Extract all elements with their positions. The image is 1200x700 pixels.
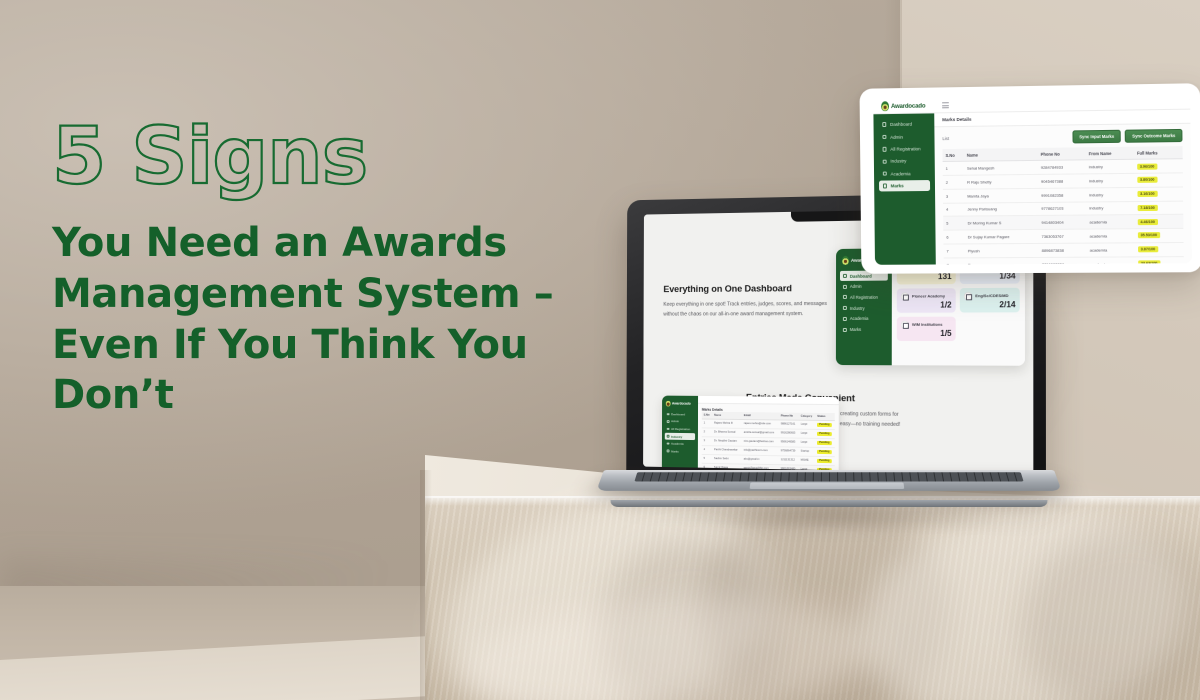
building-icon: [901, 321, 909, 329]
sidebar-item-label: Academia: [891, 171, 911, 176]
status-badge: Pending: [817, 441, 831, 445]
cell-full-marks: 3.16/100: [1134, 187, 1183, 201]
cell-phone: 9778627103: [1038, 202, 1086, 216]
sidebar-item-label: Industry: [850, 306, 865, 311]
cell-category: Large: [799, 420, 816, 429]
floating-marks-card[interactable]: Awardocado Dashboard Admin All Registrat…: [859, 83, 1200, 274]
sidebar-item-marks[interactable]: Marks: [665, 447, 695, 455]
cap-icon: [843, 317, 847, 321]
marks-badge: 4.46/100: [1138, 219, 1158, 225]
cell-sno: 4: [702, 445, 712, 454]
sidebar-item-industry[interactable]: Industry: [879, 155, 930, 167]
check-icon: [883, 184, 887, 188]
marks-badge: 3.87/100: [1138, 246, 1158, 252]
registrations-table: S.No Name Email Phone No Category Status: [702, 412, 835, 474]
cell-category: Startup: [799, 447, 816, 456]
column-header: From Name: [1086, 147, 1134, 160]
cell-category: Large: [799, 429, 816, 438]
brand-logo: Awardocado: [881, 101, 925, 112]
pedestal-left-edge: [420, 470, 432, 700]
toolbar: List Sync Input Marks Sync Outcome Marks: [934, 124, 1190, 149]
status-badge: Pending: [817, 459, 831, 463]
floating-card-inner: Awardocado Dashboard Admin All Registrat…: [873, 94, 1192, 264]
cell-phone: 1211131312: [779, 456, 799, 465]
column-header: Phone No: [1038, 147, 1086, 160]
cell-sno: 2: [943, 175, 964, 189]
cell-from-name: industry: [1086, 187, 1134, 201]
cell-name: Piyush: [965, 243, 1039, 257]
check-icon: [667, 450, 669, 453]
cell-sno: 7: [943, 244, 964, 258]
cell-phone: 9991082358: [1038, 188, 1086, 202]
list-label: List: [942, 136, 949, 141]
column-header: Full Marks: [1134, 146, 1183, 159]
brand-name: Awardocado: [891, 102, 925, 109]
cell-full-marks: 23.63/100: [1135, 256, 1184, 264]
sidebar-item-dashboard[interactable]: Dashboard: [878, 118, 929, 130]
cell-phone: 9284784933: [1038, 160, 1086, 174]
marks-widget-sidebar: Awardocado Dashboard Admin All Regi: [662, 396, 698, 474]
stat-tile-label: Eng/Sc/CDES/MD: [975, 294, 1008, 299]
cell-from-name: industry: [1086, 201, 1134, 215]
cell-from-name: academia: [1087, 243, 1135, 257]
headline-outline-text: 5 Signs: [52, 118, 612, 196]
cell-full-marks: 7.18/100: [1135, 201, 1184, 215]
check-icon: [843, 328, 847, 332]
building-icon: [964, 292, 972, 300]
cell-name: Dr Sujay Kumar Pagare: [965, 230, 1039, 244]
sidebar-item-admin[interactable]: Admin: [840, 281, 888, 292]
cap-icon: [667, 442, 669, 445]
sidebar-item-label: Admin: [850, 284, 862, 289]
cell-full-marks: 4.46/100: [1135, 215, 1184, 229]
sidebar-item-label: Dashboard: [850, 273, 872, 278]
cell-name: Dr Moring Kumar S: [964, 216, 1038, 230]
column-header: S.No: [942, 149, 963, 162]
cell-from-name: academia: [1086, 229, 1134, 243]
cell-phone: 8896873838: [1039, 243, 1087, 257]
stat-tile-label: Pioneer Academy: [912, 294, 945, 299]
cell-phone: 9414803404: [1038, 215, 1086, 229]
trackpad: [750, 483, 905, 489]
sidebar-item-label: Dashboard: [671, 412, 685, 416]
marks-widget[interactable]: Awardocado Dashboard Admin All Regi: [662, 396, 839, 474]
building-icon: [667, 435, 669, 438]
breadcrumb-label: Marks Details: [942, 117, 971, 122]
cell-from-name: industry: [1086, 173, 1134, 187]
brand-name: Awardocado: [672, 402, 691, 406]
sidebar-item-label: Marks: [850, 327, 861, 332]
cell-full-marks: 3.87/100: [1135, 242, 1184, 256]
stat-tile-label: WIM Institutions: [912, 322, 943, 327]
stat-tile-value: 1/2: [901, 300, 952, 309]
building-icon: [883, 159, 887, 163]
stat-tile[interactable]: WIM Institutions 1/5: [897, 317, 956, 341]
cell-phone: 9886127161: [779, 420, 799, 429]
cell-sno: 5: [702, 454, 712, 463]
sidebar-item-label: Admin: [671, 420, 679, 424]
table-row[interactable]: 7 Piyush 8896873838 academia 3.87/100: [943, 242, 1183, 257]
cell-name: Rajeev Mehra R: [712, 419, 742, 428]
laptop-base-lip: [609, 500, 1048, 507]
status-badge: Pending: [817, 432, 831, 436]
cell-sno: 1: [702, 419, 712, 428]
sidebar-item-academia[interactable]: Academia: [840, 314, 888, 324]
cell-phone: 9045467388: [1038, 174, 1086, 188]
sidebar-item-label: All Registration: [671, 427, 690, 431]
cell-status: Pending: [815, 456, 834, 465]
sidebar-item-label: Admin: [890, 134, 903, 139]
marks-badge: 35.53/100: [1138, 233, 1160, 239]
grid-icon: [667, 413, 669, 416]
sidebar-item-label: Industry: [671, 434, 682, 438]
sidebar-item-label: Marks: [671, 449, 679, 453]
hamburger-icon[interactable]: [942, 102, 949, 108]
cell-phone: 9916280653: [779, 429, 799, 438]
stat-tile[interactable]: Pioneer Academy 1/2: [897, 288, 956, 313]
cell-name: Mamta Jaya: [964, 188, 1038, 202]
sync-outcome-marks-button[interactable]: Sync Outcome Marks: [1125, 129, 1182, 143]
cell-phone: 7363053767: [1038, 229, 1086, 243]
marks-badge: 3.96/100: [1137, 163, 1157, 169]
sidebar-item-marks[interactable]: Marks: [879, 180, 930, 192]
floating-card-body: Dashboard Admin All Registration Industr…: [873, 110, 1191, 265]
user-icon: [843, 285, 847, 289]
headline-block: 5 Signs You Need an Awards Management Sy…: [52, 118, 612, 421]
marks-table: S.No Name Phone No From Name Full Marks …: [942, 146, 1183, 264]
marks-widget-main: Marks Details List S.No Name Email: [698, 396, 839, 474]
cell-status: Pending: [815, 429, 834, 438]
cell-category: MSME: [799, 456, 816, 465]
avocado-icon: [842, 256, 849, 265]
cell-sno: 3: [943, 189, 964, 203]
cell-status: Pending: [815, 438, 834, 447]
avocado-icon: [666, 401, 671, 407]
sidebar-item-all-registration[interactable]: All Registration: [665, 425, 695, 433]
cell-name: Dr. Nirojilini Gautam: [712, 437, 742, 446]
sidebar-item-label: Industry: [890, 159, 906, 164]
cell-category: Large: [799, 438, 816, 447]
cell-sno: 6: [943, 230, 964, 244]
sidebar-item-industry[interactable]: Industry: [840, 303, 888, 313]
sidebar-item-label: Dashboard: [890, 122, 912, 127]
building-icon: [901, 293, 909, 301]
cell-name: Jenny Parisuang: [964, 202, 1038, 216]
cell-name: Dr. Bhavna Sonsal: [712, 428, 742, 437]
marks-table-wrapper: S.No Name Phone No From Name Full Marks …: [935, 146, 1192, 265]
section-title: Everything on One Dashboard: [663, 283, 847, 295]
cell-phone: 8816003838: [1039, 257, 1087, 265]
avocado-icon: [881, 101, 889, 111]
cell-status: Pending: [815, 420, 834, 429]
sync-input-marks-button[interactable]: Sync Input Marks: [1072, 130, 1121, 144]
headline-solid-text: You Need an Awards Management System – E…: [52, 218, 612, 421]
cell-full-marks: 3.80/100: [1134, 173, 1183, 187]
grid-icon: [882, 123, 886, 127]
laptop-base: [596, 470, 1061, 491]
screen-section-dashboard: Everything on One Dashboard Keep everyth…: [663, 283, 847, 320]
cell-name: R Raju Shetty: [964, 174, 1038, 189]
cell-status: Pending: [815, 447, 834, 456]
cell-from-name: academia: [1087, 257, 1135, 265]
clipboard-icon: [883, 147, 887, 151]
keyboard: [634, 472, 1023, 481]
column-header: Name: [964, 148, 1038, 162]
status-badge: Pending: [817, 423, 831, 427]
sidebar-item-label: Academia: [671, 442, 684, 446]
floating-card-content: Marks Details List Sync Input Marks Sync…: [934, 110, 1192, 265]
sidebar-item-label: Marks: [891, 183, 904, 188]
cell-sno: 7: [944, 258, 965, 265]
sidebar-item-label: All Registration: [890, 146, 920, 151]
sidebar-item-marks[interactable]: Marks: [840, 324, 888, 334]
stat-tile[interactable]: Eng/Sc/CDES/MD 2/14: [960, 288, 1020, 313]
cell-sno: 2: [702, 428, 712, 437]
floating-card-sidebar: Dashboard Admin All Registration Industr…: [873, 113, 935, 264]
sidebar-item-label: Academia: [850, 316, 869, 321]
cell-full-marks: 3.96/100: [1134, 159, 1183, 173]
stat-tile-value: 2/14: [964, 300, 1016, 309]
building-icon: [843, 306, 847, 310]
cell-name: Pappu: [965, 257, 1039, 264]
marks-badge: 23.63/100: [1138, 260, 1160, 264]
user-icon: [667, 420, 669, 423]
cell-phone: 9756864739: [779, 447, 799, 456]
table-row[interactable]: 7 Pappu 8816003838 academia 23.63/100: [944, 256, 1184, 264]
cap-icon: [883, 172, 887, 176]
cell-phone: 9566149583: [779, 438, 799, 447]
marks-badge: 7.18/100: [1138, 205, 1158, 211]
stat-tile-value: 1/5: [901, 329, 952, 338]
user-icon: [882, 135, 886, 139]
grid-icon: [843, 274, 847, 278]
cell-from-name: industry: [1086, 159, 1134, 173]
sidebar-item-label: All Registration: [850, 295, 878, 300]
cell-sno: 5: [943, 216, 964, 230]
marks-badge: 3.16/100: [1137, 191, 1157, 197]
sidebar-item-all-registration[interactable]: All Registration: [840, 292, 888, 303]
status-badge: Pending: [817, 450, 831, 454]
cell-sno: 1: [943, 161, 964, 175]
cell-sno: 3: [702, 437, 712, 446]
sidebar-item-dashboard[interactable]: Dashboard: [665, 410, 695, 418]
cell-full-marks: 35.53/100: [1135, 228, 1184, 242]
column-header: S.No: [702, 412, 712, 419]
cell-sno: 4: [943, 203, 964, 217]
brand-logo: Awardocado: [666, 401, 695, 407]
sidebar-item-academia[interactable]: Academia: [879, 168, 930, 180]
sidebar-item-admin[interactable]: Admin: [878, 131, 929, 143]
cell-name: Sehal Mangesh: [964, 161, 1038, 176]
clipboard-icon: [843, 295, 847, 299]
sidebar-item-all-registration[interactable]: All Registration: [879, 143, 930, 155]
cell-from-name: academia: [1086, 215, 1134, 229]
section-body: Keep everything in one spot! Track entri…: [663, 299, 837, 320]
marks-badge: 3.80/100: [1137, 177, 1157, 183]
clipboard-icon: [667, 428, 669, 431]
